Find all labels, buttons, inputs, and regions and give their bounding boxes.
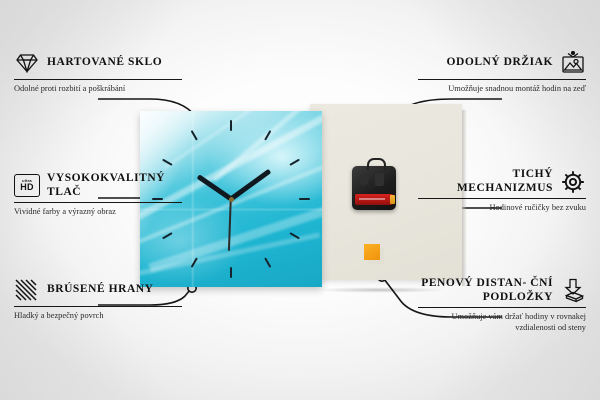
feature-title: BRÚSENÉ HRANY bbox=[47, 283, 154, 297]
feature-header: BRÚSENÉ HRANY bbox=[14, 277, 182, 306]
feature-description: Hodinové ručičky bez zvuku bbox=[418, 199, 586, 214]
feature-description: Umožňuje snadnou montáž hodin na zeď bbox=[418, 80, 586, 95]
clock-tick bbox=[230, 267, 232, 278]
clock-tick bbox=[264, 130, 271, 141]
feature-description: Vividné farby a výrazný obraz bbox=[14, 203, 182, 218]
feature-header: PENOVÝ DISTAN- ČNÍ PODLOŽKY bbox=[418, 277, 586, 307]
feature-title: PENOVÝ DISTAN- ČNÍ PODLOŽKY bbox=[418, 277, 553, 304]
feature-durable-hanger: ODOLNÝ DRŽIAK Umožňuje snadnou montáž ho… bbox=[418, 50, 586, 95]
feature-header: ultra HD VYSOKOKVALITNÝ TLAČ bbox=[14, 172, 182, 202]
foam-spacer-pad bbox=[364, 244, 380, 260]
clock-tick bbox=[162, 232, 173, 239]
down-arrow-stack-icon bbox=[560, 278, 586, 304]
feature-title: ODOLNÝ DRŽIAK bbox=[446, 56, 553, 70]
clock-tick bbox=[191, 257, 198, 268]
clock-tick bbox=[191, 130, 198, 141]
feature-header: TICHÝ MECHANIZMUS bbox=[418, 168, 586, 198]
mechanism-hanger-hook bbox=[367, 158, 386, 170]
clock-mechanism bbox=[352, 166, 396, 210]
clock-tick bbox=[264, 257, 271, 268]
clock-center-pin bbox=[229, 197, 234, 202]
feature-title: TICHÝ MECHANIZMUS bbox=[418, 168, 553, 195]
feature-description: Odolné proti rozbití a poškrábání bbox=[14, 80, 182, 95]
product-photo bbox=[140, 104, 462, 286]
clock-tick bbox=[299, 198, 310, 200]
clock-tick bbox=[162, 159, 173, 166]
feature-header: HARTOVANÉ SKLO bbox=[14, 50, 182, 79]
mechanism-dial bbox=[375, 173, 384, 186]
feature-high-quality-print: ultra HD VYSOKOKVALITNÝ TLAČ Vividné far… bbox=[14, 172, 182, 218]
clock-tick bbox=[289, 232, 300, 239]
ultra-hd-icon: ultra HD bbox=[14, 173, 40, 199]
ultra-hd-icon-main-label: HD bbox=[20, 183, 33, 192]
aa-battery bbox=[355, 194, 393, 205]
feature-foam-spacers: PENOVÝ DISTAN- ČNÍ PODLOŽKY Umožňuje vám… bbox=[418, 277, 586, 333]
ground-edges-icon bbox=[14, 277, 40, 303]
feature-description: Umožňuje vám držať hodiny v rovnakej vzd… bbox=[418, 308, 586, 333]
gear-icon bbox=[560, 169, 586, 195]
clock-tick bbox=[230, 120, 232, 131]
battery-stripe bbox=[359, 198, 385, 200]
infographic-canvas: HARTOVANÉ SKLO Odolné proti rozbití a po… bbox=[0, 0, 600, 400]
mechanism-dial bbox=[358, 174, 369, 185]
clock-tick bbox=[289, 159, 300, 166]
feature-ground-edges: BRÚSENÉ HRANY Hladký a bezpečný povrch bbox=[14, 277, 182, 322]
feature-silent-mechanism: TICHÝ MECHANIZMUS Hodinové ručičky bez z… bbox=[418, 168, 586, 214]
feature-title: HARTOVANÉ SKLO bbox=[47, 56, 162, 70]
feature-description: Hladký a bezpečný povrch bbox=[14, 307, 182, 322]
diamond-icon bbox=[14, 50, 40, 76]
picture-frame-hanger-icon bbox=[560, 50, 586, 76]
feature-title: VYSOKOKVALITNÝ TLAČ bbox=[47, 172, 182, 199]
feature-tempered-glass: HARTOVANÉ SKLO Odolné proti rozbití a po… bbox=[14, 50, 182, 95]
feature-header: ODOLNÝ DRŽIAK bbox=[418, 50, 586, 79]
